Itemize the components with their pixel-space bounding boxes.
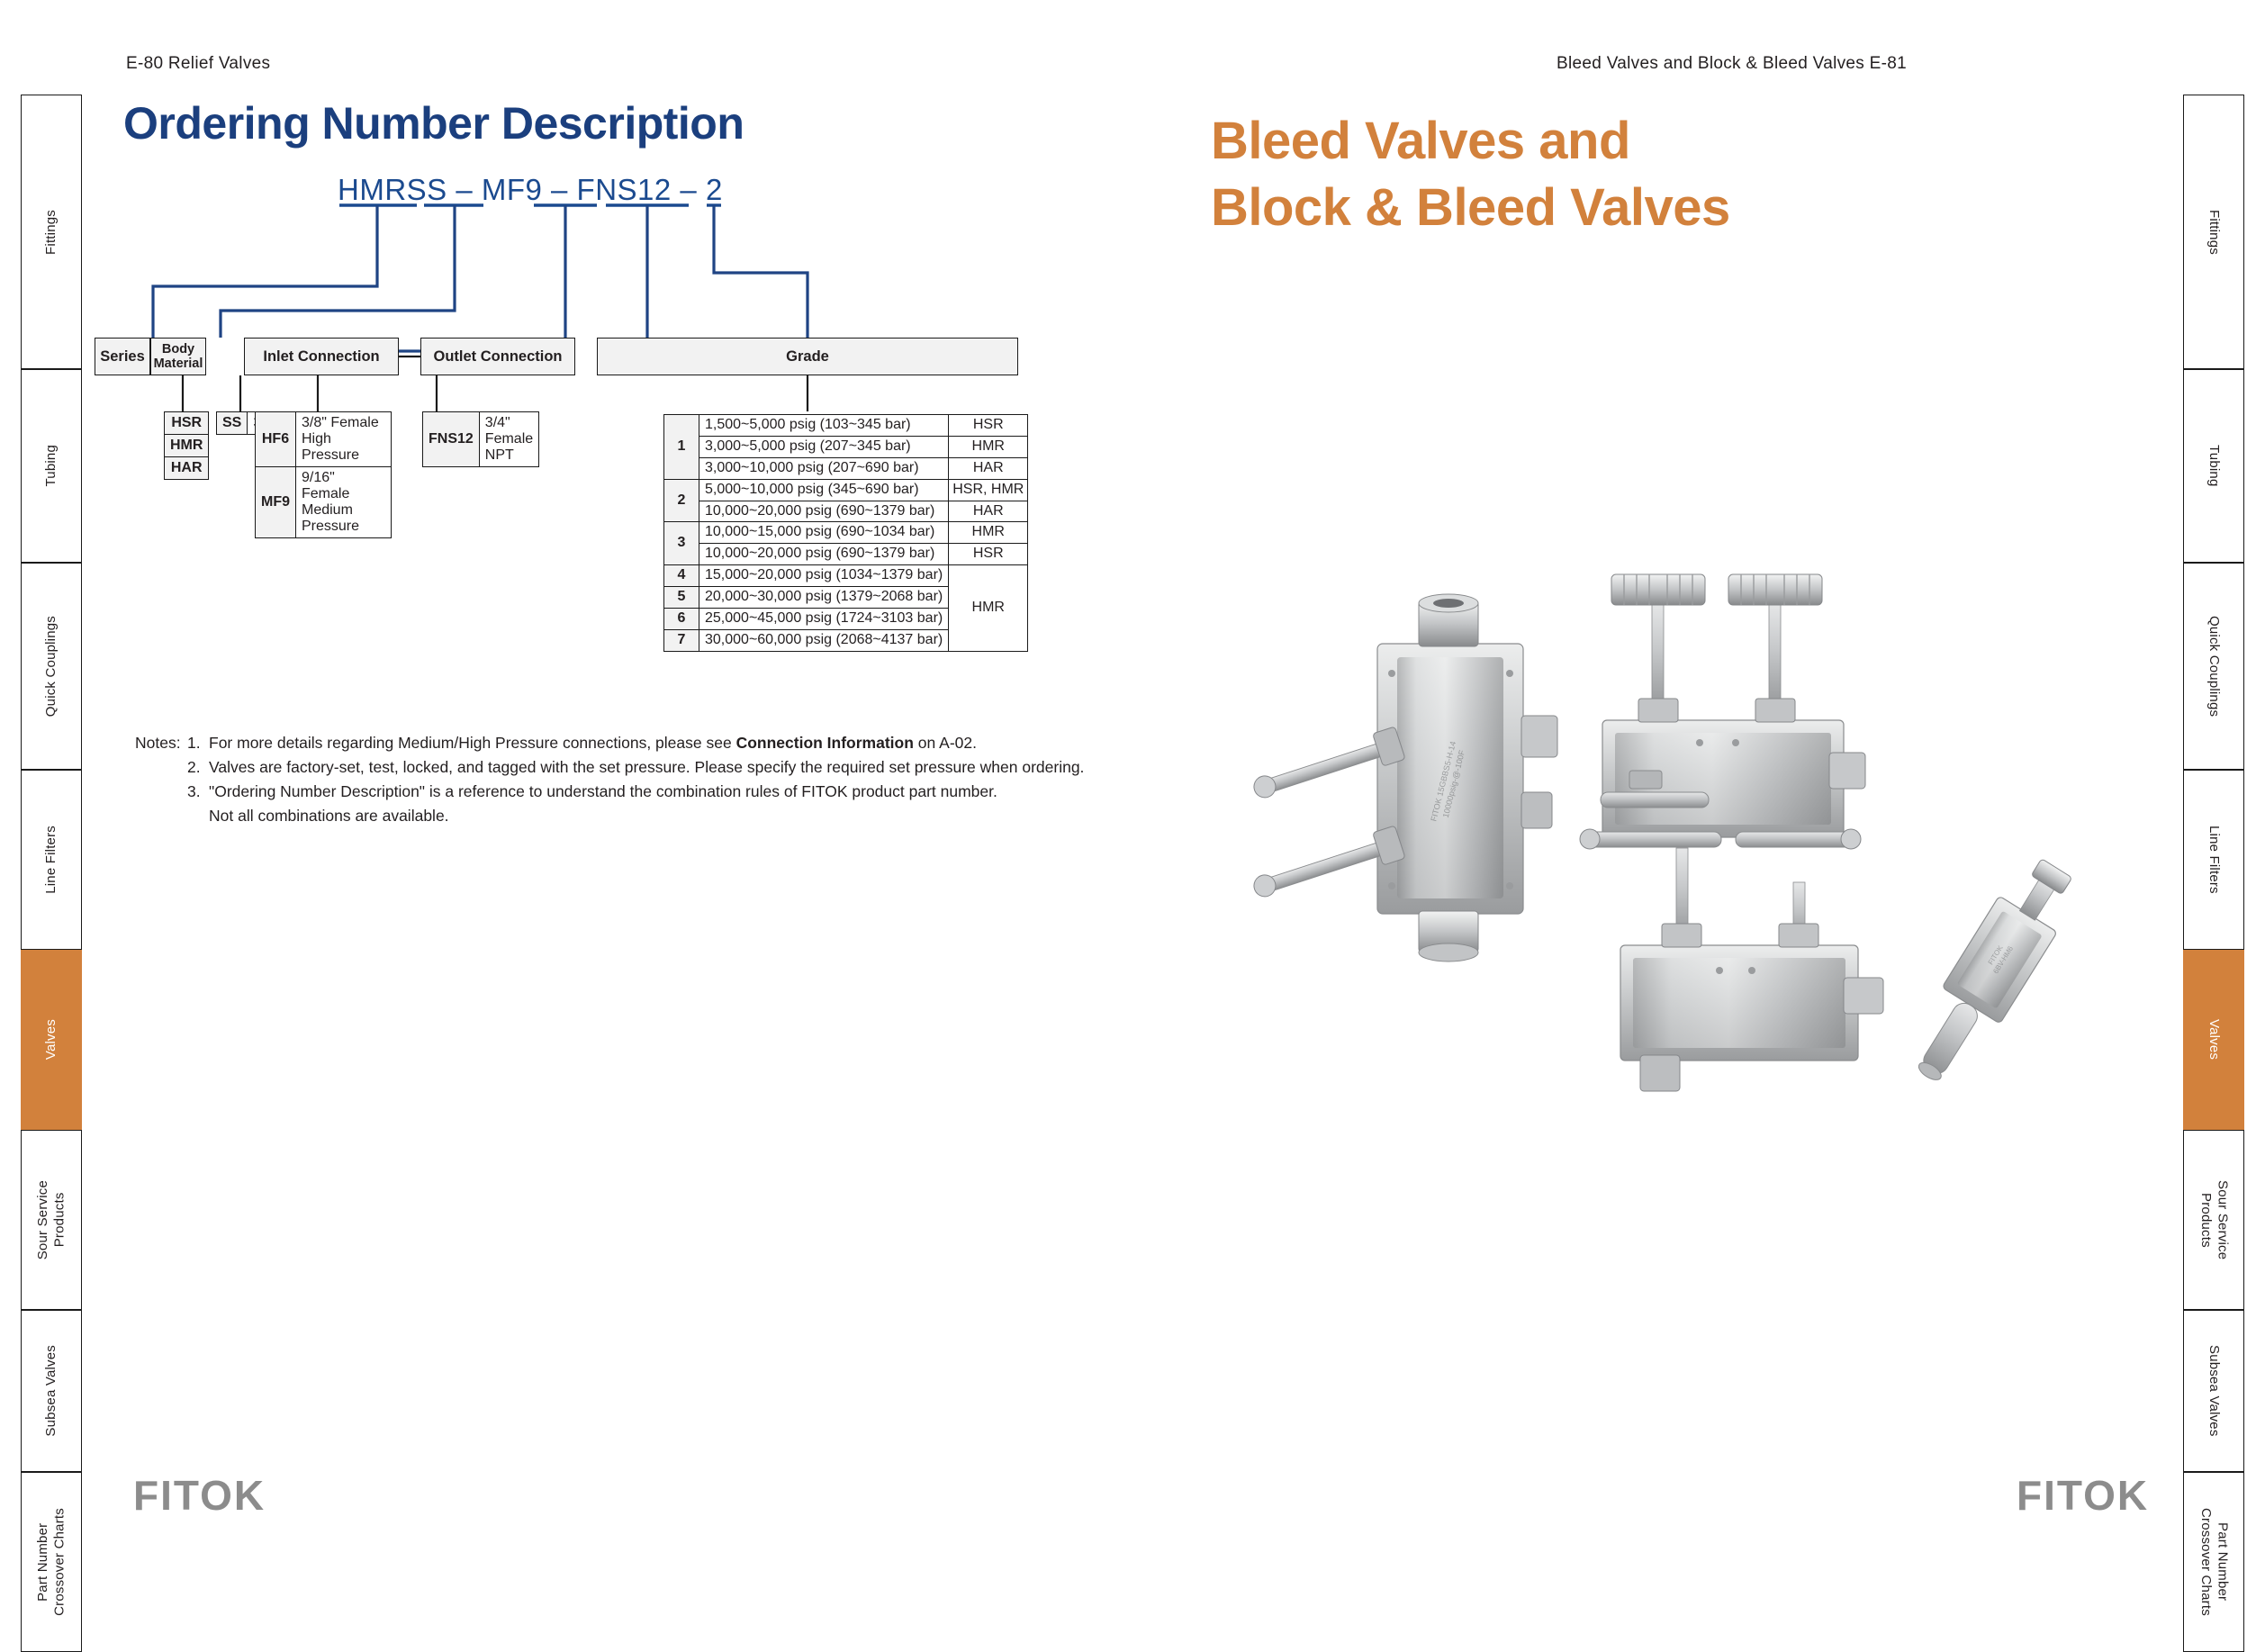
sidebar-tab-valves[interactable]: Valves <box>21 950 82 1130</box>
series-option-code: HMR <box>165 435 209 457</box>
sidebar-tab-label: Valves <box>43 1019 59 1060</box>
sidebar-tab-label: Part Number Crossover Charts <box>2197 1508 2231 1616</box>
sidebar-tab-subsea-valves[interactable]: Subsea Valves <box>2183 1310 2244 1472</box>
sidebar-tab-sour-service-products[interactable]: Sour Service Products <box>2183 1130 2244 1310</box>
diagram-header-body-material: Body Material <box>150 338 206 375</box>
grade-series: HMR <box>949 436 1028 457</box>
diagram-header-series: Series <box>95 338 150 375</box>
grade-pressure-range: 3,000~10,000 psig (207~690 bar) <box>699 457 949 479</box>
sidebar-tab-sour-service-products[interactable]: Sour Service Products <box>21 1130 82 1310</box>
sidebar-tab-quick-couplings[interactable]: Quick Couplings <box>21 563 82 770</box>
note-item: 3."Ordering Number Description" is a ref… <box>135 780 1084 804</box>
inlet-option-row: HF63/8" Female High Pressure <box>256 412 392 467</box>
note-emphasis: Connection Information <box>736 734 914 752</box>
grade-pressure-range: 15,000~20,000 psig (1034~1379 bar) <box>699 565 949 587</box>
sidebar-tab-valves[interactable]: Valves <box>2183 950 2244 1130</box>
grade-series: HAR <box>949 457 1028 479</box>
grade-row: 415,000~20,000 psig (1034~1379 bar)HMR <box>664 565 1028 587</box>
note-item: 2.Valves are factory-set, test, locked, … <box>135 755 1084 780</box>
sidebar-tabs-left: FittingsTubingQuick CouplingsLine Filter… <box>21 95 82 1440</box>
sidebar-tab-label: Quick Couplings <box>43 616 59 717</box>
grade-number: 1 <box>664 415 699 480</box>
outlet-option-code: FNS12 <box>423 412 480 467</box>
grade-pressure-range: 10,000~20,000 psig (690~1379 bar) <box>699 544 949 565</box>
grade-pressure-range: 3,000~5,000 psig (207~345 bar) <box>699 436 949 457</box>
grade-pressure-range: 10,000~15,000 psig (690~1034 bar) <box>699 522 949 544</box>
running-head-left: E-80 Relief Valves <box>126 54 270 74</box>
sidebar-tab-label: Tubing <box>2206 445 2222 487</box>
grade-pressure-range: 10,000~20,000 psig (690~1379 bar) <box>699 501 949 522</box>
grade-row: 3,000~10,000 psig (207~690 bar)HAR <box>664 457 1028 479</box>
sidebar-tab-label: Valves <box>2206 1019 2222 1060</box>
page-title-left: Ordering Number Description <box>123 97 744 149</box>
running-head-right: Bleed Valves and Block & Bleed Valves E-… <box>1557 54 1907 74</box>
inlet-option-desc: 9/16" Female Medium Pressure <box>296 467 392 538</box>
series-option-code: HSR <box>165 412 209 435</box>
notes-label: Notes: <box>135 731 187 755</box>
sidebar-tab-tubing[interactable]: Tubing <box>2183 369 2244 563</box>
outlet-connection-table: FNS123/4" Female NPT <box>422 411 539 467</box>
footer-logo-right: FITOK <box>2017 1471 2149 1520</box>
series-option-code: HAR <box>165 457 209 480</box>
sidebar-tab-part-number-crossover-charts[interactable]: Part Number Crossover Charts <box>2183 1472 2244 1652</box>
grade-row: 10,000~20,000 psig (690~1379 bar)HAR <box>664 501 1028 522</box>
sidebar-tab-subsea-valves[interactable]: Subsea Valves <box>21 1310 82 1472</box>
product-photo-group: FITOK 15GBBS5-H-14 10000psig-@-100F <box>1242 522 2107 1251</box>
grade-number: 4 <box>664 565 699 587</box>
series-option-row: HAR <box>165 457 209 480</box>
valve-photo-manifold-upper-right <box>1601 574 1865 837</box>
valve-photo-bleed-valve-right: FITOK 6BV-HM6 <box>1898 850 2086 1095</box>
grade-row: 3,000~5,000 psig (207~345 bar)HMR <box>664 436 1028 457</box>
sidebar-tab-line-filters[interactable]: Line Filters <box>2183 770 2244 950</box>
grade-pressure-range: 5,000~10,000 psig (345~690 bar) <box>699 479 949 501</box>
grade-series: HAR <box>949 501 1028 522</box>
note-text: Valves are factory-set, test, locked, an… <box>209 755 1084 780</box>
grade-number: 5 <box>664 587 699 609</box>
notes-block: Notes:1.For more details regarding Mediu… <box>135 731 1084 829</box>
series-option-row: HMR <box>165 435 209 457</box>
notes-label <box>135 755 187 780</box>
grade-number: 3 <box>664 522 699 565</box>
grade-number: 7 <box>664 629 699 651</box>
grade-series: HSR <box>949 544 1028 565</box>
page-title-right-line2: Block & Bleed Valves <box>1211 175 1730 241</box>
grade-table: 11,500~5,000 psig (103~345 bar)HSR3,000~… <box>663 414 1028 652</box>
inlet-option-desc: 3/8" Female High Pressure <box>296 412 392 467</box>
grade-series: HMR <box>949 565 1028 652</box>
grade-row: 11,500~5,000 psig (103~345 bar)HSR <box>664 415 1028 437</box>
sidebar-tab-label: Line Filters <box>43 826 59 894</box>
inlet-connection-table: HF63/8" Female High PressureMF99/16" Fem… <box>255 411 392 538</box>
series-option-row: HSR <box>165 412 209 435</box>
sidebar-tabs-right: FittingsTubingQuick CouplingsLine Filter… <box>2183 95 2244 1440</box>
grade-row: 10,000~20,000 psig (690~1379 bar)HSR <box>664 544 1028 565</box>
note-text: For more details regarding Medium/High P… <box>209 731 977 755</box>
inlet-option-code: MF9 <box>256 467 296 538</box>
valve-photo-manifold-left: FITOK 15GBBS5-H-14 10000psig-@-100F <box>1250 594 1557 961</box>
footer-logo-left: FITOK <box>133 1471 266 1520</box>
sidebar-tab-fittings[interactable]: Fittings <box>21 95 82 369</box>
grade-pressure-range: 1,500~5,000 psig (103~345 bar) <box>699 415 949 437</box>
diagram-header-inlet-connection: Inlet Connection <box>244 338 399 375</box>
inlet-option-row: MF99/16" Female Medium Pressure <box>256 467 392 538</box>
grade-pressure-range: 20,000~30,000 psig (1379~2068 bar) <box>699 587 949 609</box>
grade-row: 310,000~15,000 psig (690~1034 bar)HMR <box>664 522 1028 544</box>
grade-series: HMR <box>949 522 1028 544</box>
sidebar-tab-label: Sour Service Products <box>2197 1180 2231 1259</box>
note-continuation: Not all combinations are available. <box>135 804 1084 828</box>
note-number: 2. <box>187 755 209 780</box>
series-options-table: HSRHMRHAR <box>164 411 209 480</box>
sidebar-tab-line-filters[interactable]: Line Filters <box>21 770 82 950</box>
sidebar-tab-label: Fittings <box>2206 210 2222 255</box>
sidebar-tab-label: Part Number Crossover Charts <box>35 1508 68 1616</box>
catalog-spread: FittingsTubingQuick CouplingsLine Filter… <box>0 0 2265 1548</box>
sidebar-tab-fittings[interactable]: Fittings <box>2183 95 2244 369</box>
diagram-header-outlet-connection: Outlet Connection <box>420 338 575 375</box>
valve-photo-manifold-lower-middle <box>1580 829 1883 1091</box>
page-title-right-line1: Bleed Valves and <box>1211 108 1730 175</box>
sidebar-tab-label: Subsea Valves <box>2206 1345 2222 1437</box>
diagram-header-grade: Grade <box>597 338 1018 375</box>
notes-label <box>135 780 187 804</box>
grade-row: 25,000~10,000 psig (345~690 bar)HSR, HMR <box>664 479 1028 501</box>
grade-pressure-range: 25,000~45,000 psig (1724~3103 bar) <box>699 608 949 629</box>
note-item: Notes:1.For more details regarding Mediu… <box>135 731 1084 755</box>
grade-pressure-range: 30,000~60,000 psig (2068~4137 bar) <box>699 629 949 651</box>
sidebar-tab-label: Fittings <box>43 210 59 255</box>
sidebar-tab-part-number-crossover-charts[interactable]: Part Number Crossover Charts <box>21 1472 82 1652</box>
body-material-code: SS <box>217 412 248 435</box>
grade-number: 6 <box>664 608 699 629</box>
grade-number: 2 <box>664 479 699 522</box>
sidebar-tab-label: Subsea Valves <box>43 1345 59 1437</box>
valve-product-illustrations: FITOK 15GBBS5-H-14 10000psig-@-100F <box>1242 522 2107 1251</box>
outlet-option-desc: 3/4" Female NPT <box>479 412 538 467</box>
sidebar-tab-label: Quick Couplings <box>2206 616 2222 717</box>
sidebar-tab-label: Tubing <box>43 445 59 487</box>
sidebar-tab-label: Line Filters <box>2206 826 2222 894</box>
sidebar-tab-quick-couplings[interactable]: Quick Couplings <box>2183 563 2244 770</box>
outlet-option-row: FNS123/4" Female NPT <box>423 412 539 467</box>
note-number: 3. <box>187 780 209 804</box>
inlet-option-code: HF6 <box>256 412 296 467</box>
page-title-right: Bleed Valves and Block & Bleed Valves <box>1211 108 1730 241</box>
grade-series: HSR <box>949 415 1028 437</box>
grade-series: HSR, HMR <box>949 479 1028 501</box>
note-text: "Ordering Number Description" is a refer… <box>209 780 997 804</box>
sidebar-tab-tubing[interactable]: Tubing <box>21 369 82 563</box>
sidebar-tab-label: Sour Service Products <box>35 1180 68 1259</box>
note-number: 1. <box>187 731 209 755</box>
